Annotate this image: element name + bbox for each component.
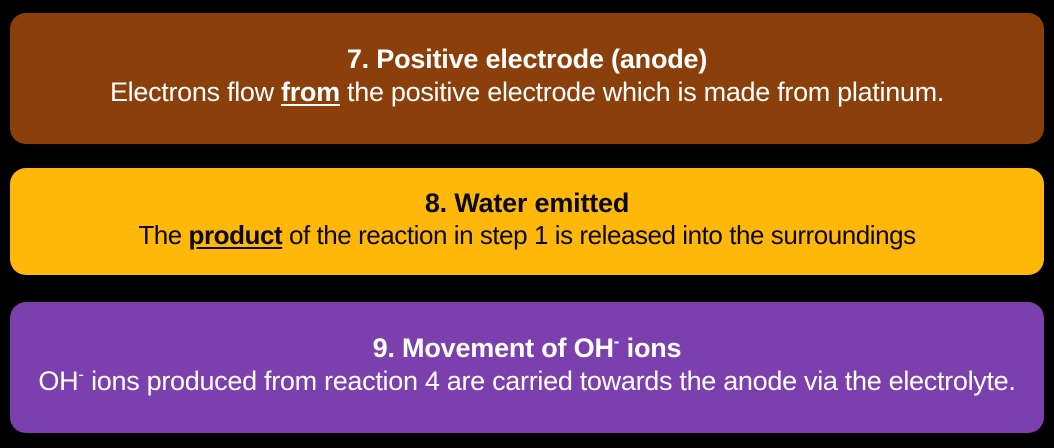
card-body-oh-movement: OH- ions produced from reaction 4 are ca… — [38, 365, 1015, 398]
water-body-text-before: The — [138, 220, 188, 250]
card-movement-of-oh-ions: 9. Movement of OH- ions OH- ions produce… — [10, 302, 1044, 433]
oh-body-text-before: OH — [38, 366, 78, 396]
water-body-emphasis-product: product — [189, 220, 283, 250]
card-title-oh-movement: 9. Movement of OH- ions — [373, 333, 682, 363]
card-title-water-emitted: 8. Water emitted — [425, 188, 629, 218]
oh-title-text-after: ions — [619, 333, 681, 363]
anode-body-text-after: the positive electrode which is made fro… — [340, 77, 944, 107]
card-body-anode: Electrons flow from the positive electro… — [110, 76, 944, 109]
oh-title-text-before: 9. Movement of OH — [373, 333, 614, 363]
card-positive-electrode-anode: 7. Positive electrode (anode) Electrons … — [10, 13, 1044, 144]
card-body-water-emitted: The product of the reaction in step 1 is… — [138, 220, 915, 252]
anode-body-text-before: Electrons flow — [110, 77, 281, 107]
anode-body-emphasis-from: from — [281, 77, 340, 107]
slide-root: 7. Positive electrode (anode) Electrons … — [0, 0, 1054, 448]
card-water-emitted: 8. Water emitted The product of the reac… — [10, 168, 1044, 275]
card-title-anode: 7. Positive electrode (anode) — [347, 44, 707, 74]
oh-body-text-after: ions produced from reaction 4 are carrie… — [84, 366, 1016, 396]
water-body-text-after: of the reaction in step 1 is released in… — [282, 220, 916, 250]
